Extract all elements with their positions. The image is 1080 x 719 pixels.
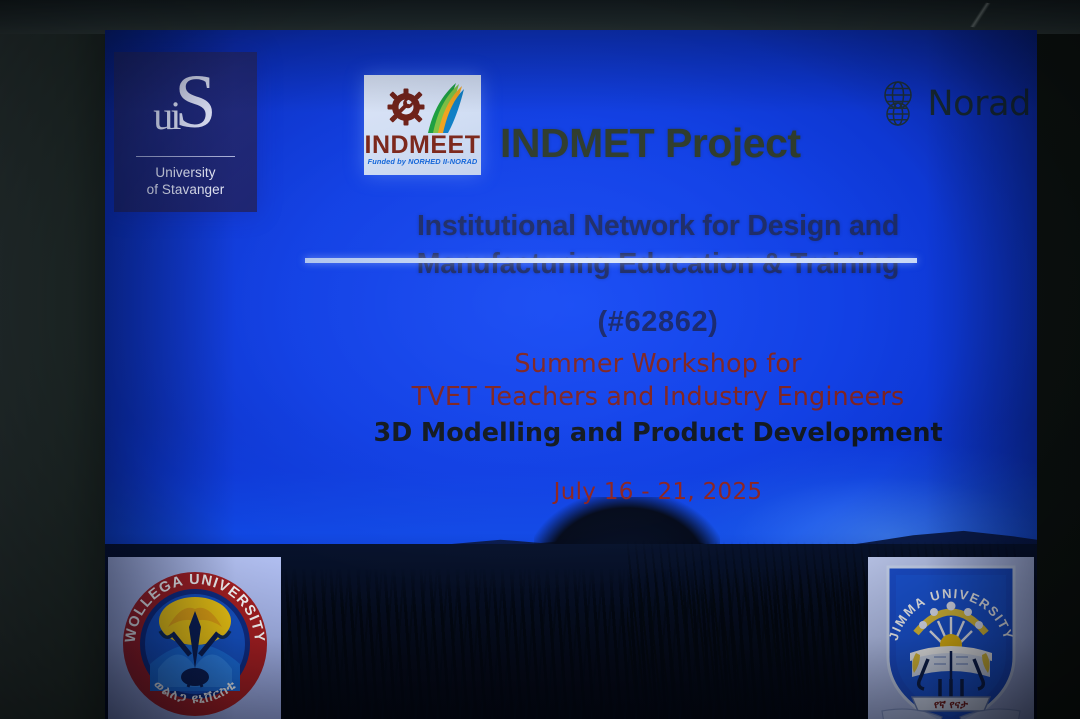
indmeet-tagline: Funded by NORHED II-NORAD xyxy=(364,157,481,166)
workshop-line-1: Summer Workshop for xyxy=(297,349,1019,379)
wall-top-strip xyxy=(0,0,1080,34)
slide-subtitle: Institutional Network for Design and Man… xyxy=(297,208,1019,283)
workshop-line-2: TVET Teachers and Industry Engineers xyxy=(297,382,1019,412)
uis-divider-rule xyxy=(136,156,235,157)
indmeet-wordmark: INDMEET xyxy=(364,131,481,160)
projected-slide-photo: uiS University of Stavanger xyxy=(0,0,1080,719)
workshop-dates: July 16 - 21, 2025 xyxy=(297,479,1019,505)
leaf-swoosh-icon xyxy=(422,81,464,135)
title-divider xyxy=(305,258,917,263)
university-of-stavanger-logo: uiS University of Stavanger xyxy=(114,52,257,212)
slide-subtitle-line2: Manufacturing Education & Training xyxy=(297,246,1019,284)
course-title: 3D Modelling and Product Development xyxy=(297,418,1019,448)
uis-monogram-big: S xyxy=(174,64,213,140)
jimma-banner-text: የኛ የናታ xyxy=(934,699,969,711)
slide-subtitle-line1: Institutional Network for Design and xyxy=(297,208,1019,246)
project-number: (#62862) xyxy=(297,306,1019,339)
uis-name-line1: University xyxy=(114,164,257,181)
slide-title: INDMET Project xyxy=(500,120,940,167)
gear-wrench-icon xyxy=(386,88,426,128)
uis-monogram-icon: uiS xyxy=(114,66,257,150)
uis-name-line2: of Stavanger xyxy=(114,181,257,198)
presentation-slide: uiS University of Stavanger xyxy=(105,30,1037,719)
wollega-seal-icon: WOLLEGA UNIVERSITY ወልለጋ ዩኒቨርስቲ xyxy=(120,569,270,719)
uis-name: University of Stavanger xyxy=(114,164,257,199)
norad-wordmark: Norad xyxy=(927,84,1031,124)
jimma-shield-icon: የኛ የናታ JIMMA UNIVERSITY xyxy=(876,561,1026,719)
jimma-university-logo: የኛ የናታ JIMMA UNIVERSITY xyxy=(868,557,1034,719)
wollega-university-logo: WOLLEGA UNIVERSITY ወልለጋ ዩኒቨርስቲ xyxy=(108,557,281,719)
indmeet-logo: INDMEET Funded by NORHED II-NORAD xyxy=(364,75,481,175)
wall-scratch-mark xyxy=(958,0,1001,31)
